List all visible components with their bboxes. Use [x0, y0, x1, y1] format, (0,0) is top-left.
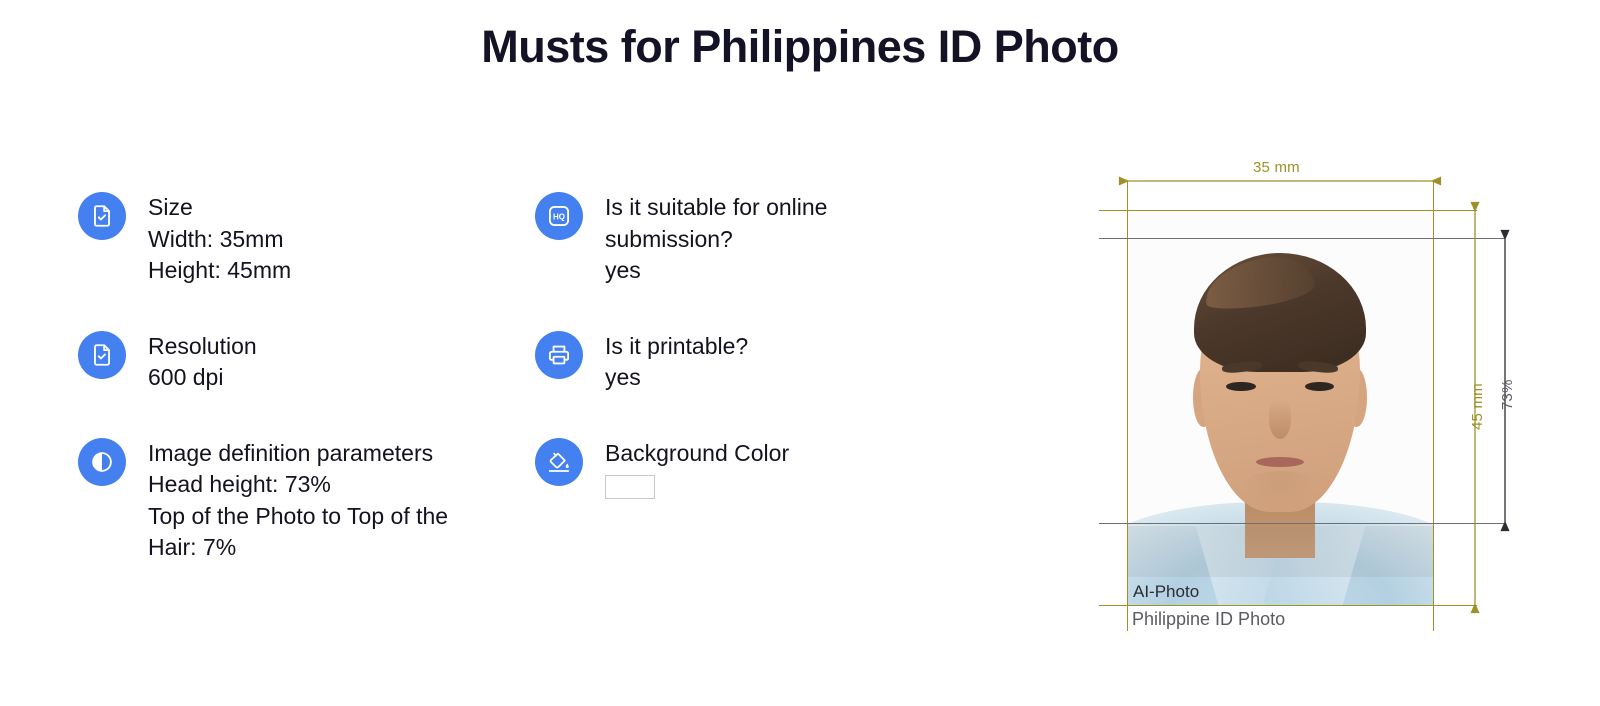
requirement-resolution-value: 600 dpi: [148, 362, 257, 394]
requirement-online-submission: HQ Is it suitable for online submission?…: [535, 190, 955, 287]
requirement-image-definition-text: Image definition parameters Head height:…: [148, 436, 448, 564]
document-check-icon: [78, 331, 126, 379]
requirement-printable: Is it printable? yes: [535, 329, 955, 394]
photo-caption: Philippine ID Photo: [1132, 608, 1285, 630]
requirement-head-height: Head height: 73%: [148, 469, 448, 501]
requirement-size-height: Height: 45mm: [148, 255, 291, 287]
requirement-background-color: Background Color: [535, 436, 955, 500]
svg-text:HQ: HQ: [553, 212, 565, 221]
requirements-middle-column: HQ Is it suitable for online submission?…: [535, 190, 955, 499]
page-title: Musts for Philippines ID Photo: [0, 18, 1600, 76]
photo-watermark: AI-Photo: [1133, 582, 1199, 602]
requirement-printable-text: Is it printable? yes: [605, 329, 748, 394]
requirement-top-of-hair: Top of the Photo to Top of the Hair: 7%: [148, 501, 448, 564]
requirements-left-column: Size Width: 35mm Height: 45mm Resolution…: [78, 190, 498, 564]
head-height-dimension-label: 73%: [1499, 379, 1516, 410]
requirement-image-definition-heading: Image definition parameters: [148, 438, 448, 470]
contrast-icon: [78, 438, 126, 486]
requirement-printable-value: yes: [605, 362, 748, 394]
requirement-online-submission-text: Is it suitable for online submission? ye…: [605, 190, 827, 287]
requirement-online-submission-value: yes: [605, 255, 827, 287]
requirement-resolution-heading: Resolution: [148, 331, 257, 363]
dimension-arrows: [1085, 155, 1525, 645]
paint-bucket-icon: [535, 438, 583, 486]
requirement-printable-heading: Is it printable?: [605, 331, 748, 363]
printer-icon: [535, 331, 583, 379]
height-dimension-label: 45 mm: [1469, 383, 1486, 430]
requirement-size-width: Width: 35mm: [148, 224, 291, 256]
hq-badge-icon: HQ: [535, 192, 583, 240]
requirement-online-submission-heading: Is it suitable for online submission?: [605, 192, 827, 255]
requirement-size: Size Width: 35mm Height: 45mm: [78, 190, 498, 287]
width-dimension-label: 35 mm: [1253, 159, 1300, 176]
requirement-size-text: Size Width: 35mm Height: 45mm: [148, 190, 291, 287]
background-color-swatch[interactable]: [605, 475, 655, 499]
requirement-background-color-text: Background Color: [605, 436, 789, 500]
requirement-size-heading: Size: [148, 192, 291, 224]
requirement-resolution-text: Resolution 600 dpi: [148, 329, 257, 394]
photo-specification-diagram: 35 mm 45 mm 73% AI-Photo Philippine ID P…: [1085, 155, 1525, 645]
requirement-background-color-heading: Background Color: [605, 438, 789, 470]
requirement-image-definition: Image definition parameters Head height:…: [78, 436, 498, 564]
requirement-resolution: Resolution 600 dpi: [78, 329, 498, 394]
document-check-icon: [78, 192, 126, 240]
